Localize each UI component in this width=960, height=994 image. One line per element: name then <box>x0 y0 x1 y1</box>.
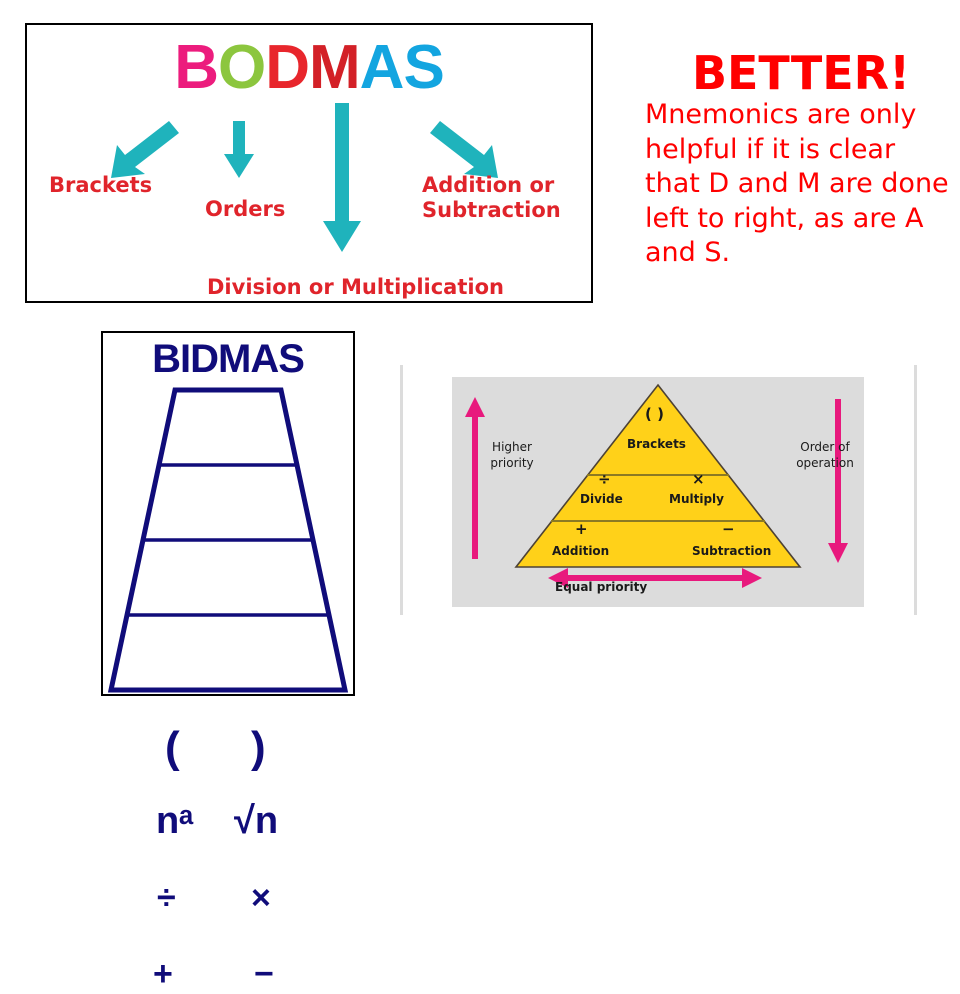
bodmas-label-division-or-multiplication: Division or Multiplication <box>207 275 504 300</box>
bodmas-letter-m: M <box>309 33 360 102</box>
panel-divider-left <box>400 365 403 615</box>
bodmas-label-orders: Orders <box>205 197 285 222</box>
bidmas-title: BIDMAS <box>103 337 353 381</box>
pyramid-subtraction-label: Subtraction <box>692 544 771 558</box>
bodmas-letter-a: A <box>360 33 404 102</box>
pyramid-brackets-label: Brackets <box>627 437 686 451</box>
bodmas-label-brackets: Brackets <box>49 173 152 198</box>
pyramid-addition-symbol: + <box>575 520 588 538</box>
higher-priority-label: Higher priority <box>477 440 547 472</box>
equal-priority-label: Equal priority <box>555 580 647 594</box>
bidmas-row-indices-right: √n <box>234 800 278 843</box>
higher-priority-label-line2: priority <box>477 456 547 472</box>
bidmas-trapezoid <box>103 386 353 694</box>
pyramid-addition-label: Addition <box>552 544 609 558</box>
bodmas-letter-o: O <box>218 33 265 102</box>
better-callout: BETTER! Mnemonics are only helpful if it… <box>645 50 957 271</box>
pyramid-multiply-symbol: × <box>692 470 705 488</box>
pyramid-subtraction-symbol: − <box>722 520 735 538</box>
pyramid-divide-label: Divide <box>580 492 623 506</box>
higher-priority-arrow-icon <box>465 397 485 559</box>
better-heading: BETTER! <box>645 50 957 96</box>
pyramid-multiply-label: Multiply <box>669 492 724 506</box>
bodmas-letter-d: D <box>265 33 309 102</box>
priority-pyramid-panel: ( ) Brackets ÷ Divide × Multiply + Addit… <box>392 365 932 615</box>
arrow-to-division-multiplication-icon <box>323 103 361 255</box>
bodmas-letter-s: S <box>403 33 443 102</box>
bidmas-row-indices-left: nᵃ <box>156 800 194 843</box>
order-of-operation-arrow-icon <box>828 399 848 563</box>
bidmas-row-subtraction: − <box>254 955 274 994</box>
pyramid-divide-symbol: ÷ <box>598 470 611 488</box>
higher-priority-label-line1: Higher <box>477 440 547 456</box>
bodmas-diagram-panel: BODMAS Brackets Orders Division or Multi… <box>25 23 593 303</box>
bidmas-row-multiply: × <box>251 879 271 918</box>
bidmas-diagram-panel: BIDMAS ( ) nᵃ √n ÷ × + − <box>101 331 355 696</box>
order-of-operation-label: Order of operation <box>787 440 863 472</box>
order-of-operation-label-line1: Order of <box>787 440 863 456</box>
bidmas-row-brackets-left: ( <box>165 723 180 773</box>
arrow-to-orders-icon <box>224 121 254 181</box>
order-of-operation-label-line2: operation <box>787 456 863 472</box>
bidmas-row-addition: + <box>153 955 173 994</box>
better-body-text: Mnemonics are only helpful if it is clea… <box>645 98 957 271</box>
bodmas-label-addition-or-subtraction: Addition or Subtraction <box>422 173 582 223</box>
bidmas-row-divide: ÷ <box>157 879 176 918</box>
bodmas-title: BODMAS <box>27 37 591 99</box>
pyramid-brackets-symbol: ( ) <box>645 405 664 423</box>
bodmas-letter-b: B <box>174 33 218 102</box>
bidmas-row-brackets-right: ) <box>251 723 266 773</box>
panel-divider-right <box>914 365 917 615</box>
